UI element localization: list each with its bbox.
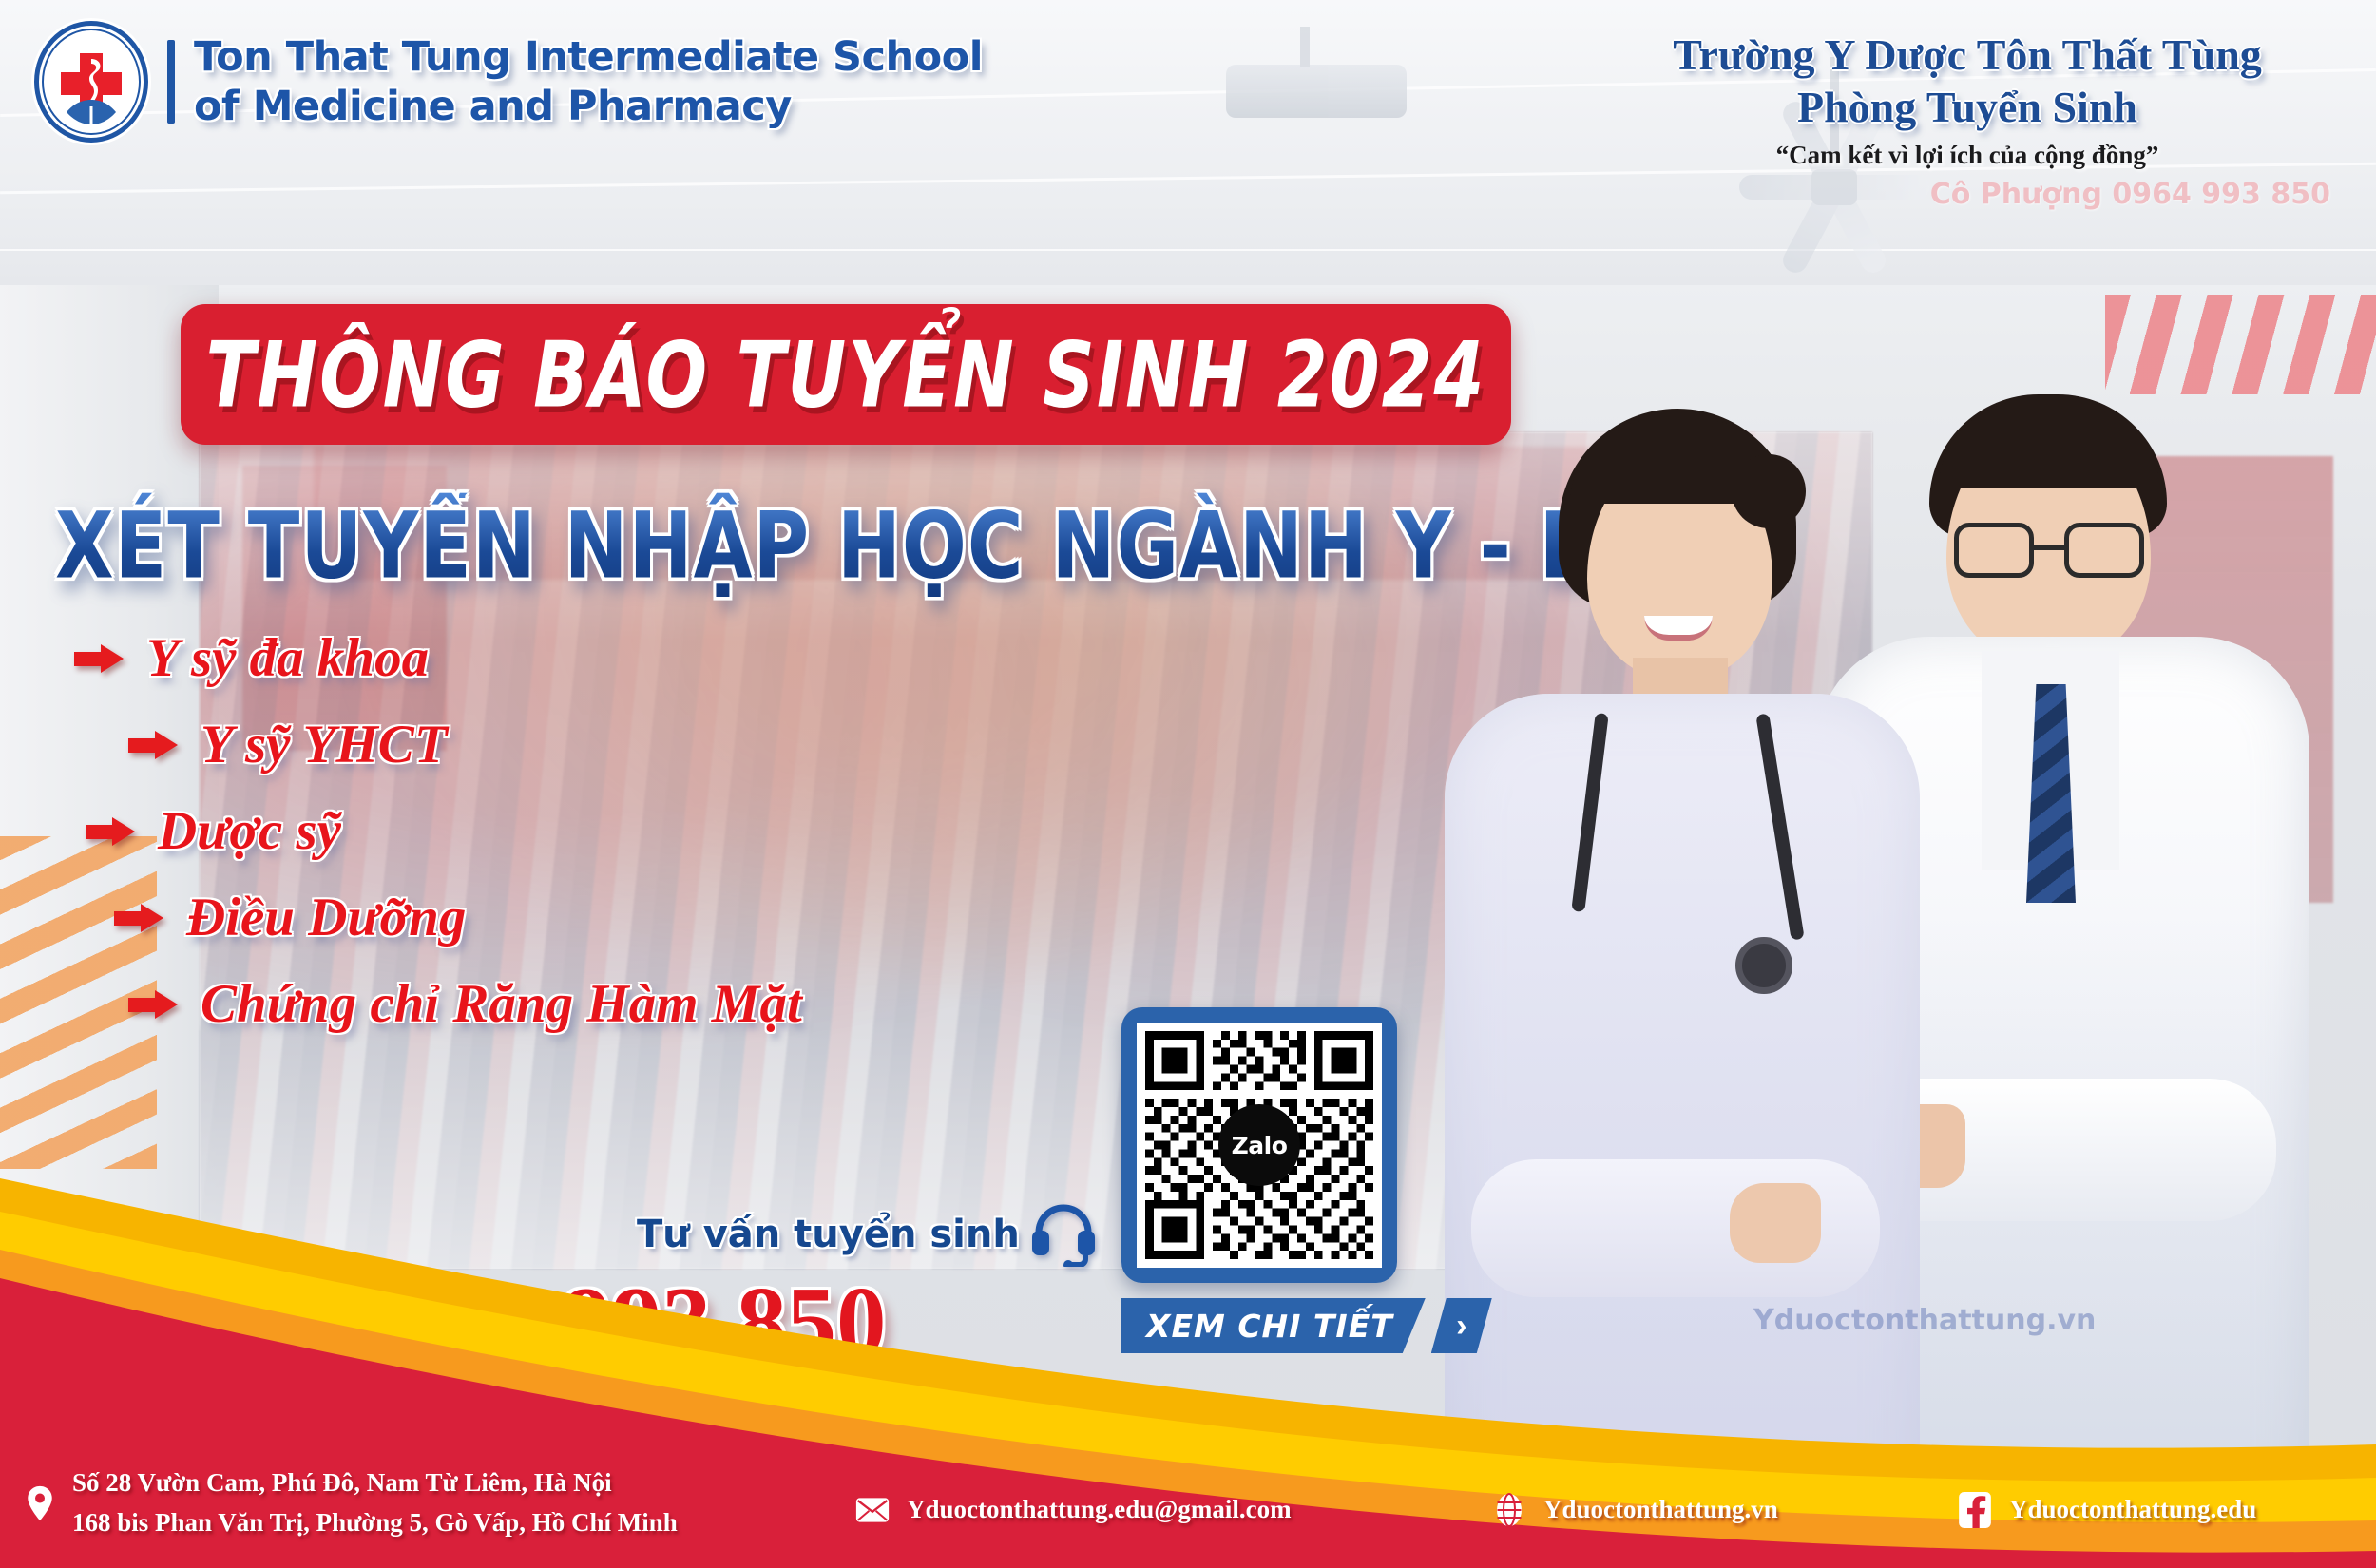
list-item: Y sỹ YHCT: [128, 714, 1055, 775]
school-name-vn-line1: Trường Y Dược Tôn Thất Tùng: [1597, 29, 2338, 81]
address-line-1: Số 28 Vườn Cam, Phú Đô, Nam Từ Liêm, Hà …: [72, 1463, 678, 1503]
footer-facebook: Yduoctonthattung.edu: [2009, 1490, 2256, 1530]
location-pin-icon: [23, 1484, 57, 1522]
school-name-en-line1: Ton That Tung Intermediate School: [194, 32, 983, 82]
footer-addresses: Số 28 Vườn Cam, Phú Đô, Nam Từ Liêm, Hà …: [72, 1463, 678, 1543]
list-item: Điều Dưỡng: [114, 887, 1055, 948]
school-name-en-line2: of Medicine and Pharmacy: [194, 82, 983, 131]
footer-email: Yduoctonthattung.edu@gmail.com: [907, 1490, 1292, 1530]
arrow-right-icon: [128, 731, 178, 759]
school-name-vn: Trường Y Dược Tôn Thất Tùng Phòng Tuyển …: [1597, 29, 2338, 133]
program-label: Y sỹ đa khoa: [146, 627, 429, 689]
male-hair-top: [1939, 401, 2159, 488]
header-right: Trường Y Dược Tôn Thất Tùng Phòng Tuyển …: [1597, 29, 2338, 211]
envelope-icon: [855, 1491, 890, 1529]
footer-website: Yduoctonthattung.vn: [1543, 1490, 1778, 1530]
announcement-banner: THÔNG BÁO TUYỂN SINH 2024: [181, 304, 1511, 445]
contact-person-label: Cô Phượng 0964 993 850: [1597, 178, 2338, 211]
projector: [1226, 65, 1407, 118]
footer-address-group: Số 28 Vườn Cam, Phú Đô, Nam Từ Liêm, Hà …: [23, 1463, 678, 1543]
program-label: Dược sỹ: [158, 800, 341, 862]
address-line-2: 168 bis Phan Văn Trị, Phường 5, Gò Vấp, …: [72, 1503, 678, 1543]
arrow-right-icon: [114, 904, 163, 932]
header-divider: [167, 40, 175, 124]
list-item: Chứng chỉ Răng Hàm Mặt: [128, 973, 1055, 1035]
program-list: Y sỹ đa khoa Y sỹ YHCT Dược sỹ Điều Dưỡn…: [57, 627, 1055, 1060]
arrow-right-icon: [86, 817, 135, 846]
program-label: Điều Dưỡng: [186, 887, 466, 948]
school-logo-icon: [34, 21, 148, 143]
list-item: Y sỹ đa khoa: [74, 627, 1055, 689]
school-motto: “Cam kết vì lợi ích của cộng đồng”: [1597, 141, 2338, 170]
ceiling-line: [0, 249, 2376, 251]
announcement-text: THÔNG BÁO TUYỂN SINH 2024: [206, 321, 1486, 427]
male-glasses: [1954, 523, 2144, 578]
poster-root: Ton That Tung Intermediate School of Med…: [0, 0, 2376, 1568]
globe-icon: [1492, 1491, 1526, 1529]
stethoscope: [1576, 713, 1794, 998]
footer-bar: Số 28 Vườn Cam, Phú Đô, Nam Từ Liêm, Hà …: [0, 1446, 2376, 1568]
footer-website-group[interactable]: Yduoctonthattung.vn: [1492, 1490, 1778, 1530]
school-name-vn-line2: Phòng Tuyển Sinh: [1597, 81, 2338, 133]
program-label: Chứng chỉ Răng Hàm Mặt: [201, 973, 802, 1035]
list-item: Dược sỹ: [86, 800, 1055, 862]
arrow-right-icon: [128, 990, 178, 1019]
female-hair-bun: [1732, 454, 1806, 528]
facebook-icon: [1958, 1491, 1992, 1529]
school-name-en: Ton That Tung Intermediate School of Med…: [194, 32, 983, 132]
arrow-right-icon: [74, 644, 124, 673]
footer-email-group[interactable]: Yduoctonthattung.edu@gmail.com: [855, 1490, 1292, 1530]
header-left: Ton That Tung Intermediate School of Med…: [34, 21, 983, 143]
program-label: Y sỹ YHCT: [201, 714, 448, 775]
footer-facebook-group[interactable]: Yduoctonthattung.edu: [1958, 1490, 2256, 1530]
